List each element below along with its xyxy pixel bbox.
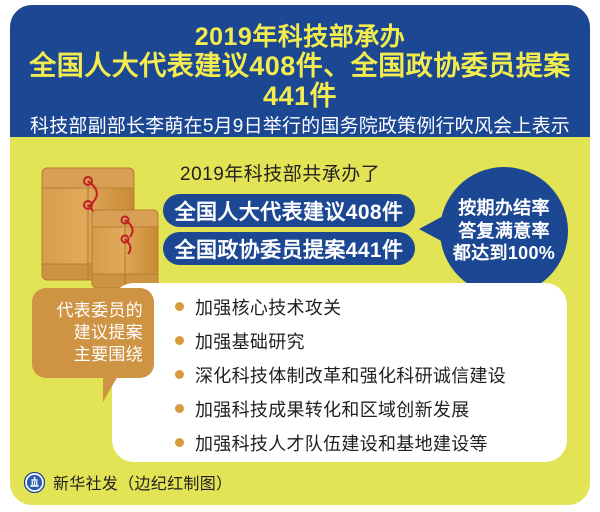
orange-bubble-tail bbox=[103, 374, 126, 402]
list-item-label: 加强核心技术攻关 bbox=[195, 294, 341, 320]
topics-list: 加强核心技术攻关 加强基础研究 深化科技体制改革和强化科研诚信建设 加强科技成果… bbox=[175, 290, 555, 460]
credit-text: 新华社发（边纪红制图） bbox=[53, 470, 232, 494]
list-item: 加强科技人才队伍建设和基地建设等 bbox=[175, 426, 555, 459]
xinhua-agency-logo-icon bbox=[24, 472, 45, 493]
list-item: 加强基础研究 bbox=[175, 324, 555, 357]
stat-pill-cppcc-proposals: 全国政协委员提案441件 bbox=[163, 232, 415, 265]
list-item: 加强科技成果转化和区域创新发展 bbox=[175, 392, 555, 425]
list-item-label: 深化科技体制改革和强化科研诚信建设 bbox=[195, 362, 506, 388]
bullet-dot-icon bbox=[175, 404, 184, 413]
header-banner: 2019年科技部承办 全国人大代表建议408件、全国政协委员提案441件 科技部… bbox=[10, 5, 590, 137]
topics-intro-line-3: 主要围绕 bbox=[74, 344, 143, 366]
bullet-dot-icon bbox=[175, 302, 184, 311]
topics-intro-bubble: 代表委员的 建议提案 主要围绕 bbox=[32, 288, 154, 378]
bullet-dot-icon bbox=[175, 438, 184, 447]
stat-pill-npc-suggestions: 全国人大代表建议408件 bbox=[163, 194, 415, 227]
envelope-illustration bbox=[30, 160, 190, 300]
completion-rate-bubble: 按期办结率 答复满意率 都达到100% bbox=[440, 167, 568, 295]
envelope-icon bbox=[30, 160, 190, 300]
bullet-dot-icon bbox=[175, 370, 184, 379]
list-item-label: 加强科技成果转化和区域创新发展 bbox=[195, 396, 470, 422]
topics-intro-line-2: 建议提案 bbox=[74, 322, 143, 344]
completion-rate-line-3: 都达到100% bbox=[453, 242, 555, 265]
lead-statement: 2019年科技部共承办了 bbox=[180, 159, 380, 186]
topics-intro-line-1: 代表委员的 bbox=[57, 300, 144, 322]
header-subtitle: 科技部副部长李萌在5月9日举行的国务院政策例行吹风会上表示 bbox=[22, 116, 578, 139]
list-item: 加强核心技术攻关 bbox=[175, 290, 555, 323]
completion-rate-line-2: 答复满意率 bbox=[458, 220, 550, 243]
infographic-poster: 2019年科技部承办 全国人大代表建议408件、全国政协委员提案441件 科技部… bbox=[0, 0, 600, 512]
bullet-dot-icon bbox=[175, 336, 184, 345]
list-item: 深化科技体制改革和强化科研诚信建设 bbox=[175, 358, 555, 391]
list-item-label: 加强科技人才队伍建设和基地建设等 bbox=[195, 430, 488, 456]
list-item-label: 加强基础研究 bbox=[195, 328, 305, 354]
completion-rate-line-1: 按期办结率 bbox=[458, 197, 550, 220]
header-title-line-2: 全国人大代表建议408件、全国政协委员提案441件 bbox=[22, 51, 578, 111]
footer-credit: 新华社发（边纪红制图） bbox=[24, 470, 232, 494]
header-title-line-1: 2019年科技部承办 bbox=[22, 23, 578, 51]
